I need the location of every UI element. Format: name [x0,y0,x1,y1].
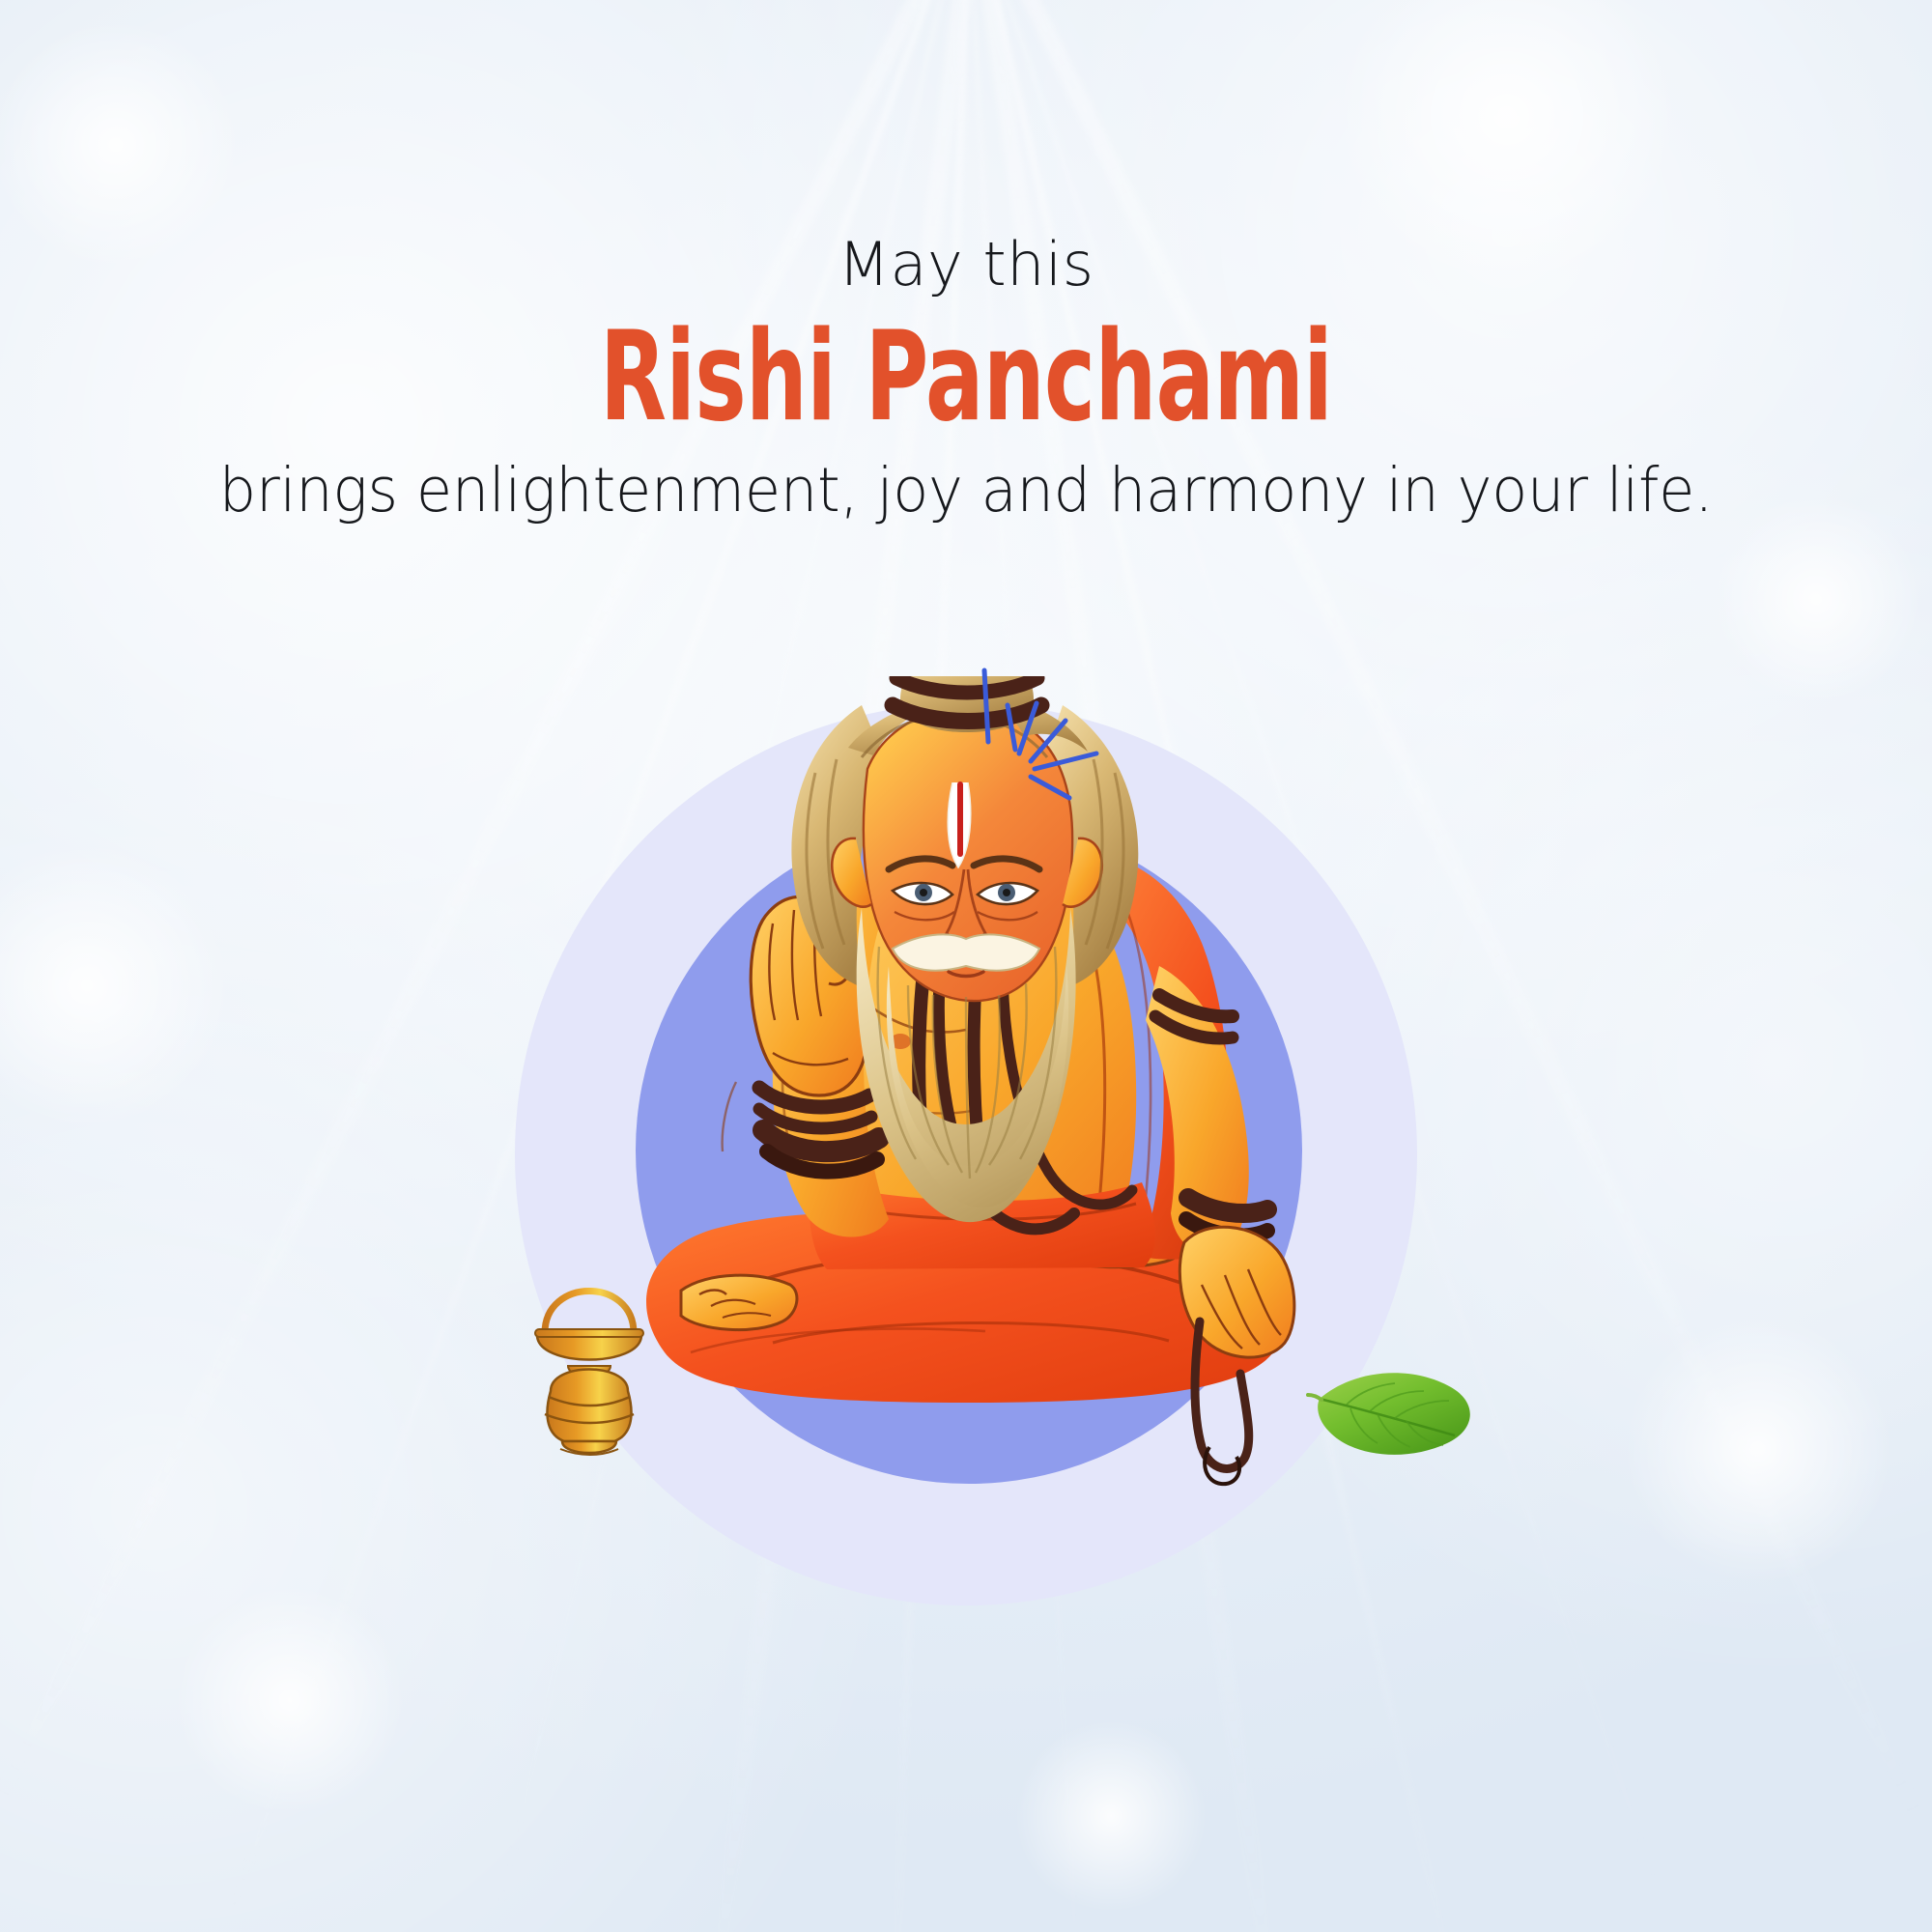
greeting-line-1: May this [0,232,1932,298]
kamandalu-pot [512,1256,667,1468]
greeting-text-block: May this Rishi Panchami brings enlighten… [0,232,1932,526]
festival-title: Rishi Panchami [213,315,1719,441]
greeting-card: May this Rishi Panchami brings enlighten… [0,0,1932,1932]
greeting-line-2: brings enlightenment, joy and harmony in… [39,455,1893,526]
betel-leaf-icon [1306,1352,1490,1478]
sparkle-lines-icon [942,657,1116,811]
